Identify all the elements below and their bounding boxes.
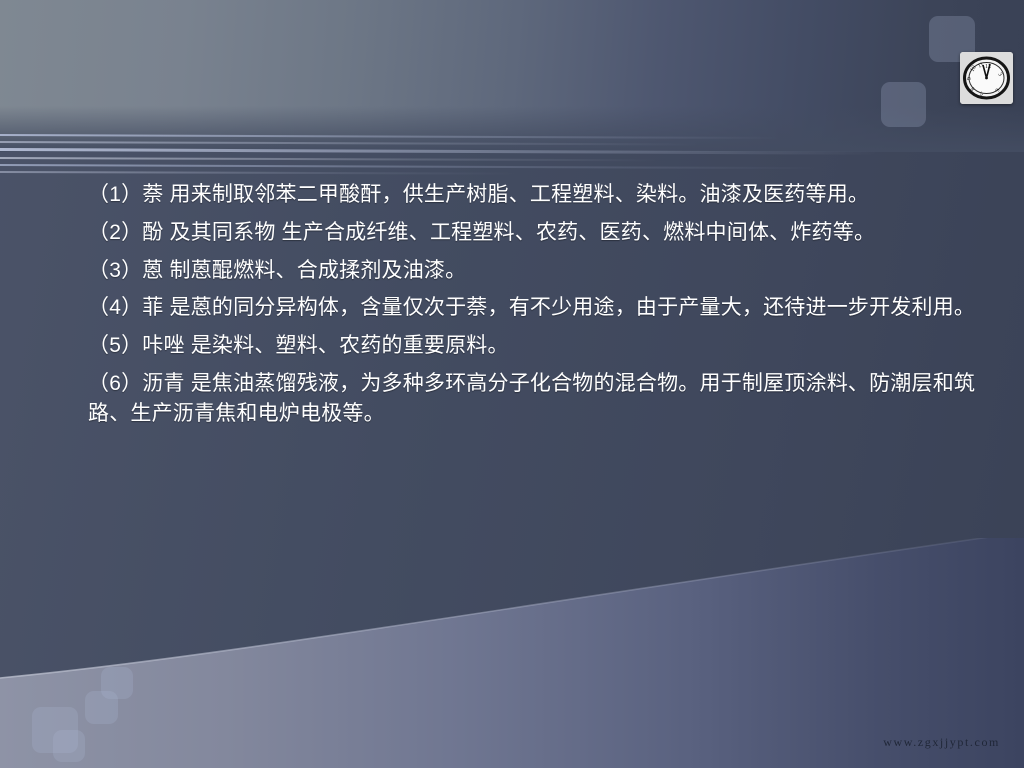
decorative-square: [881, 82, 926, 127]
slide-bottom-curve: [0, 538, 1024, 768]
presentation-slide: 12 3 6 8 9 10 11 7 （1）萘 用来制取邻苯二甲酸酐，供生产树脂…: [0, 0, 1024, 768]
slide-top-band: [0, 0, 1024, 152]
bullet-item-4: （4）菲 是蒽的同分异构体，含量仅次于萘，有不少用途，由于产量大，还待进一步开发…: [88, 293, 978, 323]
bullet-item-5: （5）咔唑 是染料、塑料、农药的重要原料。: [88, 331, 978, 361]
clock-icon: 12 3 6 8 9 10 11 7: [960, 52, 1013, 104]
decorative-square: [101, 667, 133, 699]
bullet-item-3: （3）蒽 制蒽醌燃料、合成揉剂及油漆。: [88, 256, 978, 286]
slide-body-text: （1）萘 用来制取邻苯二甲酸酐，供生产树脂、工程塑料、染料。油漆及医药等用。 （…: [88, 180, 978, 437]
decorative-square: [53, 730, 85, 762]
svg-text:9: 9: [967, 77, 973, 81]
bullet-item-1: （1）萘 用来制取邻苯二甲酸酐，供生产树脂、工程塑料、染料。油漆及医药等用。: [88, 180, 978, 210]
bullet-item-6: （6）沥青 是焦油蒸馏残液，为多种多环高分子化合物的混合物。用于制屋顶涂料、防潮…: [88, 369, 978, 429]
watermark: www.zgxjjypt.com: [883, 735, 1000, 750]
bullet-item-2: （2）酚 及其同系物 生产合成纤维、工程塑料、农药、医药、燃料中间体、炸药等。: [88, 218, 978, 248]
